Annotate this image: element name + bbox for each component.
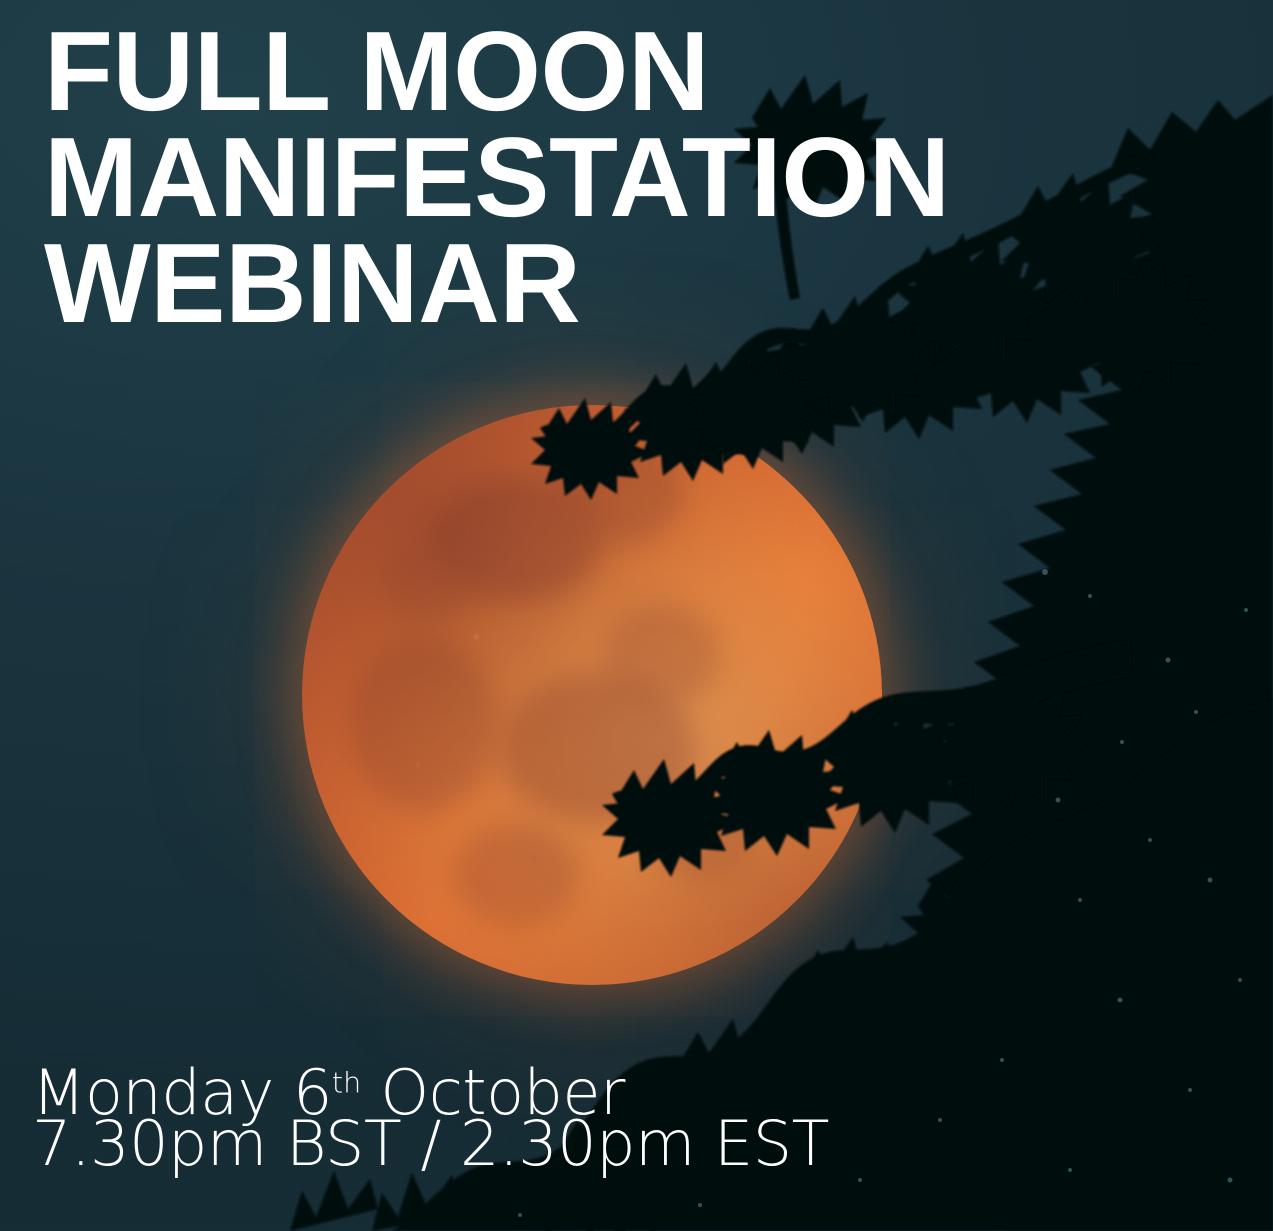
moon-crater-texture — [302, 405, 882, 985]
event-time-line: 7.30pm BST / 2.30pm EST — [32, 1118, 829, 1169]
poster-canvas: FULL MOON MANIFESTATION WEBINAR Monday 6… — [0, 0, 1273, 1231]
poster-headline: FULL MOON MANIFESTATION WEBINAR — [44, 18, 950, 336]
moon-image — [302, 405, 882, 985]
event-datetime-block: Monday 6th October 7.30pm BST / 2.30pm E… — [32, 1067, 829, 1169]
event-ordinal-suffix: th — [332, 1066, 361, 1099]
